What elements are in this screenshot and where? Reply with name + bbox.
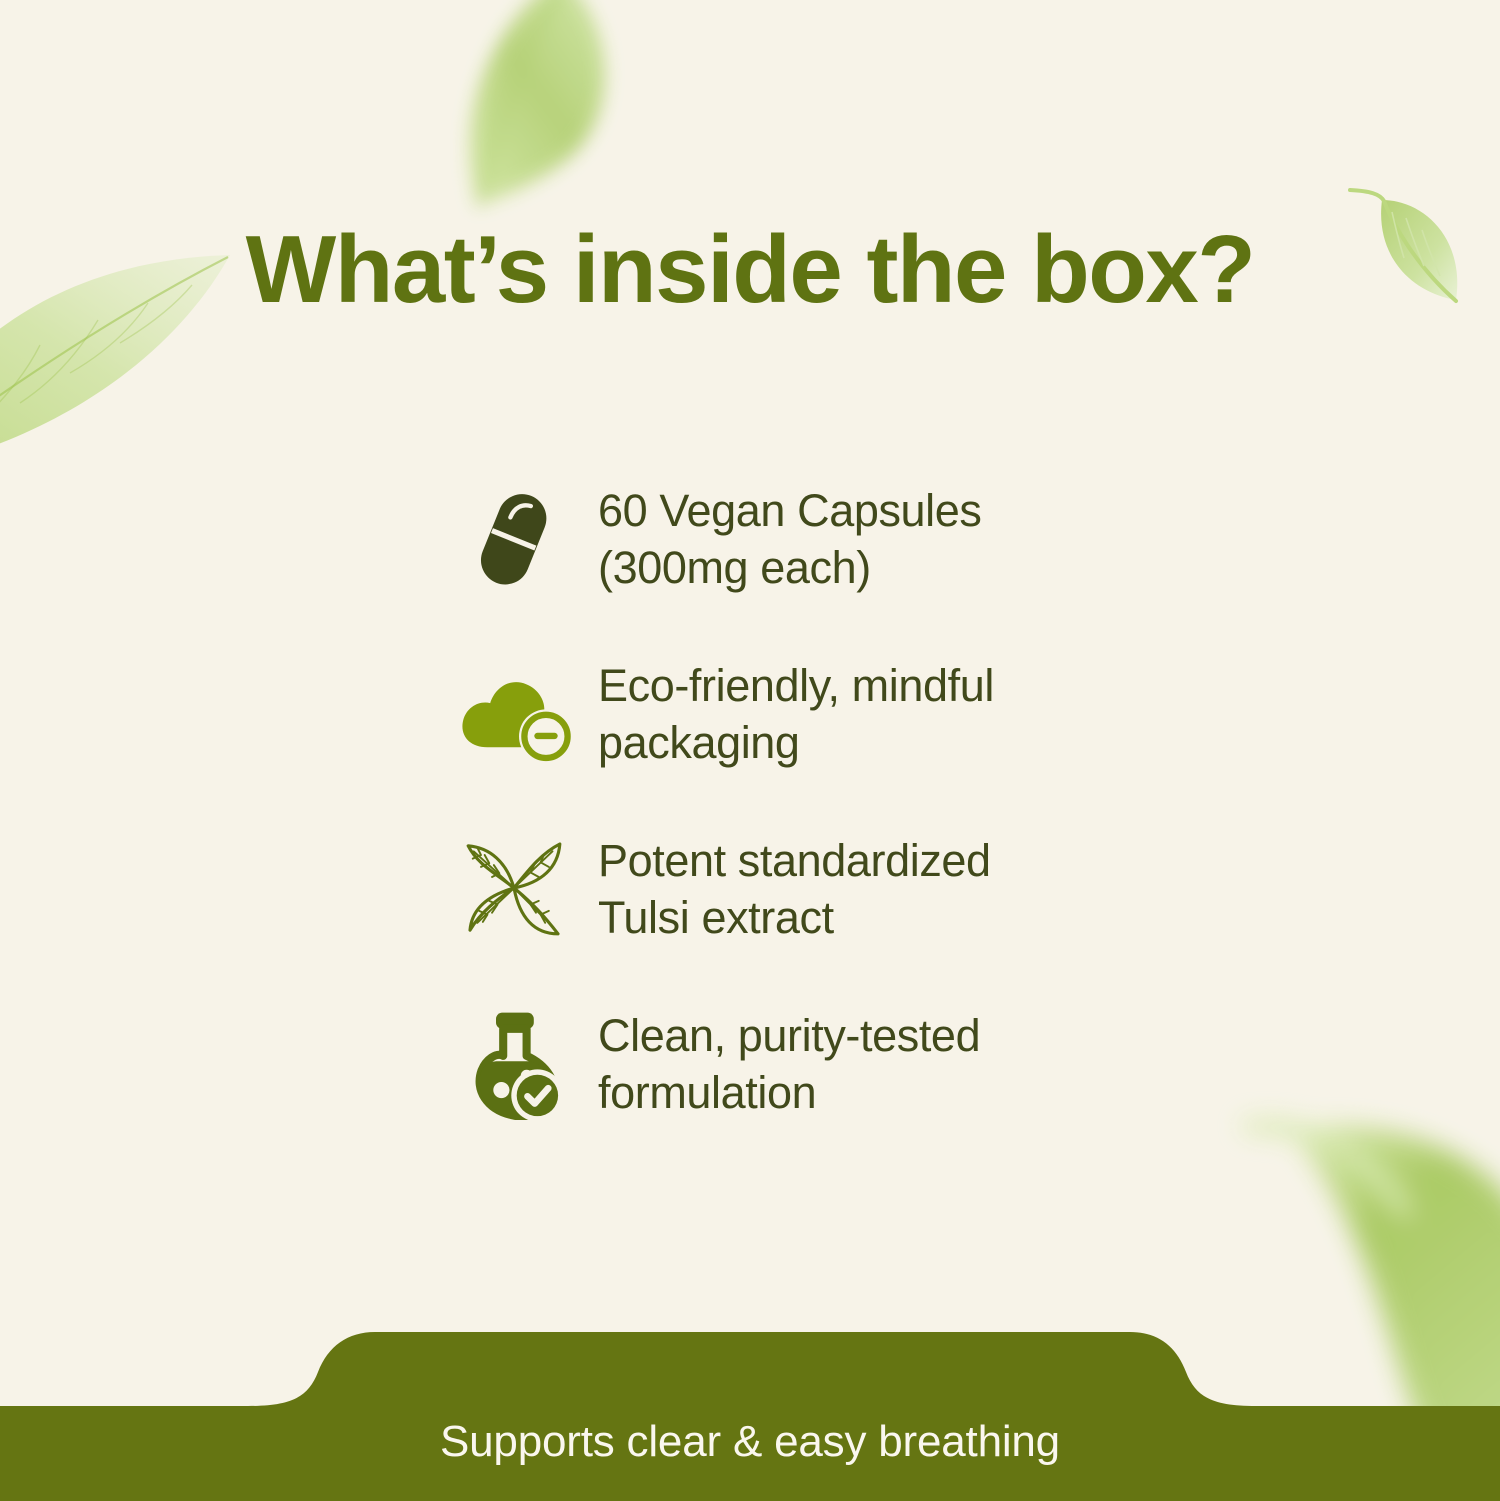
tulsi-leaf-icon [430, 833, 598, 943]
banner-label: Supports clear & easy breathing [0, 1417, 1500, 1467]
flask-verified-icon [430, 1007, 598, 1120]
promo-card: What’s inside the box? 60 Vegan Capsules… [0, 0, 1500, 1501]
list-item: Eco-friendly, mindful packaging [430, 653, 1150, 773]
list-item: Clean, purity-tested formulation [430, 1003, 1150, 1123]
leaf-icon-top-center [360, 0, 660, 230]
list-item-label: Potent standardized Tulsi extract [598, 828, 991, 946]
feature-list: 60 Vegan Capsules (300mg each) Eco-frien… [430, 478, 1150, 1123]
bottom-banner: Supports clear & easy breathing [0, 1326, 1500, 1501]
list-item-label: Clean, purity-tested formulation [598, 1003, 980, 1121]
list-item-label: 60 Vegan Capsules (300mg each) [598, 478, 982, 596]
list-item: Potent standardized Tulsi extract [430, 828, 1150, 948]
list-item: 60 Vegan Capsules (300mg each) [430, 478, 1150, 598]
capsule-icon [430, 482, 598, 595]
cloud-carbon-reduce-icon [430, 659, 598, 767]
page-title: What’s inside the box? [0, 214, 1500, 325]
list-item-label: Eco-friendly, mindful packaging [598, 653, 994, 771]
